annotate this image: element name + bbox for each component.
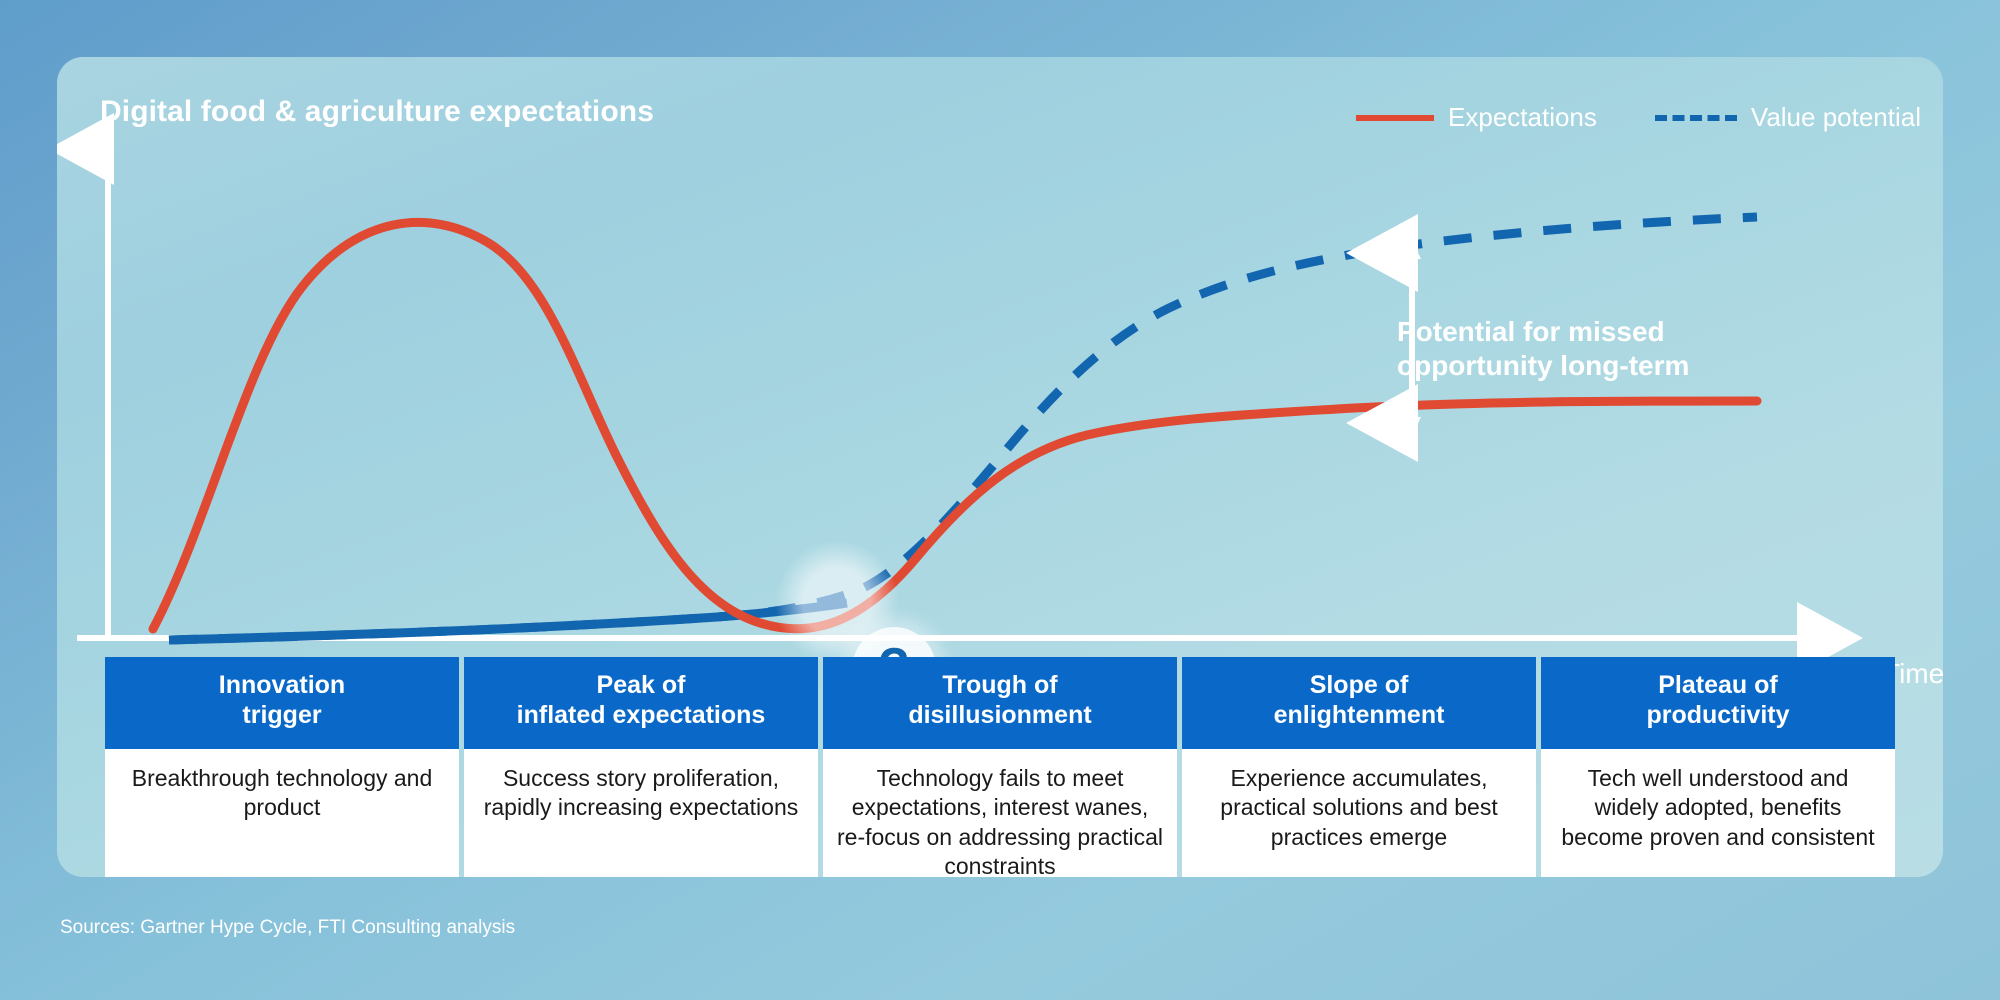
- stage-header-2-line1: Peak of: [470, 671, 812, 701]
- legend-swatch-dashed-icon: [1655, 115, 1737, 121]
- legend-item-value-potential[interactable]: Value potential: [1655, 102, 1921, 133]
- stage-column-4: Slope of enlightenment Experience accumu…: [1182, 657, 1536, 877]
- stage-body-1: Breakthrough technology and product: [105, 749, 459, 877]
- stage-body-5: Tech well understood and widely adopted,…: [1541, 749, 1895, 877]
- stage-header-1: Innovation trigger: [105, 657, 459, 749]
- stage-header-3: Trough of disillusionment: [823, 657, 1177, 749]
- stage-header-3-line1: Trough of: [829, 671, 1171, 701]
- stage-header-4-line2: enlightenment: [1188, 701, 1530, 731]
- value-potential-curve: [169, 217, 1757, 640]
- stage-header-4: Slope of enlightenment: [1182, 657, 1536, 749]
- stage-column-3: Trough of disillusionment Technology fai…: [823, 657, 1177, 877]
- gap-arrow-head-down: [1403, 417, 1421, 436]
- legend-label-expectations: Expectations: [1448, 102, 1597, 133]
- chart-legend: Expectations Value potential: [1356, 102, 1921, 133]
- stage-header-4-line1: Slope of: [1188, 671, 1530, 701]
- legend-label-value-potential: Value potential: [1751, 102, 1921, 133]
- gap-annotation-text: Potential for missed opportunity long-te…: [1397, 315, 1817, 383]
- expectations-curve: [153, 222, 1757, 629]
- stage-header-2-line2: inflated expectations: [470, 701, 812, 731]
- legend-swatch-solid-icon: [1356, 115, 1434, 121]
- stage-header-2: Peak of inflated expectations: [464, 657, 818, 749]
- stage-header-5-line2: productivity: [1547, 701, 1889, 731]
- stage-header-3-line2: disillusionment: [829, 701, 1171, 731]
- stage-column-5: Plateau of productivity Tech well unders…: [1541, 657, 1895, 877]
- stage-column-1: Innovation trigger Breakthrough technolo…: [105, 657, 459, 877]
- chart-card: Digital food & agriculture expectations …: [57, 57, 1943, 877]
- page-title: Digital food & agriculture expectations: [100, 95, 654, 129]
- stage-body-2: Success story proliferation, rapidly inc…: [464, 749, 818, 877]
- hype-cycle-stage-table: Innovation trigger Breakthrough technolo…: [105, 657, 1895, 877]
- stage-body-4: Experience accumulates, practical soluti…: [1182, 749, 1536, 877]
- stage-column-2: Peak of inflated expectations Success st…: [464, 657, 818, 877]
- stage-header-1-line1: Innovation: [111, 671, 453, 701]
- sources-note: Sources: Gartner Hype Cycle, FTI Consult…: [60, 917, 515, 939]
- legend-item-expectations[interactable]: Expectations: [1356, 102, 1597, 133]
- stage-header-5: Plateau of productivity: [1541, 657, 1895, 749]
- stage-body-3: Technology fails to meet expectations, i…: [823, 749, 1177, 877]
- stage-header-5-line1: Plateau of: [1547, 671, 1889, 701]
- stage-header-1-line2: trigger: [111, 701, 453, 731]
